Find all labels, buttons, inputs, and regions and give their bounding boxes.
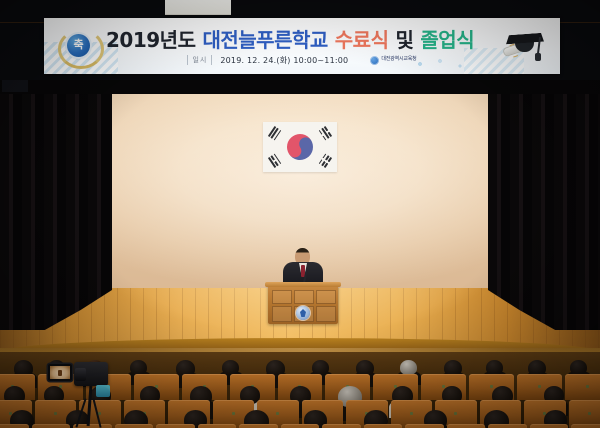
banner-title: 2019년도대전늘푸른학교수료식및졸업식 <box>106 23 526 53</box>
audience-head <box>486 360 503 375</box>
trigram-gam <box>318 126 332 141</box>
auditorium-seat <box>447 424 486 428</box>
datetime-tag: 일시 <box>187 55 212 65</box>
audience-head <box>312 360 329 375</box>
auditorium-seat <box>405 424 444 428</box>
screen-roller <box>165 0 231 15</box>
school-crest-icon <box>296 306 310 320</box>
banner-segment-year: 2019년도 <box>106 24 195 53</box>
audience-head <box>130 360 147 375</box>
audience-head <box>222 360 239 375</box>
audience-head <box>570 360 587 375</box>
audience-head <box>400 360 417 375</box>
banner-segment-school-name: 대전늘푸른학교 <box>202 24 327 53</box>
banner-segment-graduation-ceremony: 졸업식 <box>420 24 474 53</box>
auditorium-photo: 축 2019년도대전늘푸른학교수료식및졸업식 일시 2019. 12. 24.(… <box>0 0 600 428</box>
datetime-value: 2019. 12. 24.(화) 10:00~11:00 <box>220 55 348 66</box>
auditorium-seat <box>239 424 278 428</box>
trigram-geon <box>268 126 282 141</box>
korean-national-flag <box>263 122 337 172</box>
auditorium-seat <box>322 424 361 428</box>
auditorium-seat <box>198 424 237 428</box>
video-camera-on-tripod <box>60 358 126 428</box>
taeguk-symbol <box>282 129 318 165</box>
camera-flip-panel <box>96 385 110 397</box>
organization-name: 대전광역시교육청 <box>381 57 416 63</box>
banner-segment-completion-ceremony: 수료식 <box>335 24 389 53</box>
auditorium-seat <box>530 424 569 428</box>
podium-preview <box>50 366 70 379</box>
tripod-column <box>87 386 93 426</box>
stage-curtain-left <box>0 80 112 330</box>
auditorium-seat <box>488 424 527 428</box>
banner-subtitle: 일시 2019. 12. 24.(화) 10:00~11:00 대전광역시교육청 <box>44 52 560 68</box>
event-banner: 축 2019년도대전늘푸른학교수료식및졸업식 일시 2019. 12. 24.(… <box>44 18 560 74</box>
auditorium-seat <box>156 424 195 428</box>
curtain-valance <box>0 80 600 94</box>
trigram-ri <box>268 153 282 168</box>
camera-body <box>74 362 108 386</box>
auditorium-seat <box>571 424 600 428</box>
auditorium-seat <box>364 424 403 428</box>
graduation-cap-icon <box>502 26 548 66</box>
trigram-gon <box>318 153 332 168</box>
auditorium-seat <box>565 374 600 400</box>
banner-segment-conjunction: 및 <box>395 24 413 53</box>
organization-logo: 대전광역시교육청 <box>370 56 416 65</box>
auditorium-seat <box>0 424 29 428</box>
lectern-top <box>265 282 341 287</box>
camera-lcd-screen <box>48 364 72 381</box>
stage-curtain-right <box>488 80 600 330</box>
globe-icon <box>370 56 379 65</box>
podium-group <box>268 246 338 324</box>
camera-lens <box>75 368 86 381</box>
wall-monitor <box>2 80 28 92</box>
auditorium-seat <box>281 424 320 428</box>
